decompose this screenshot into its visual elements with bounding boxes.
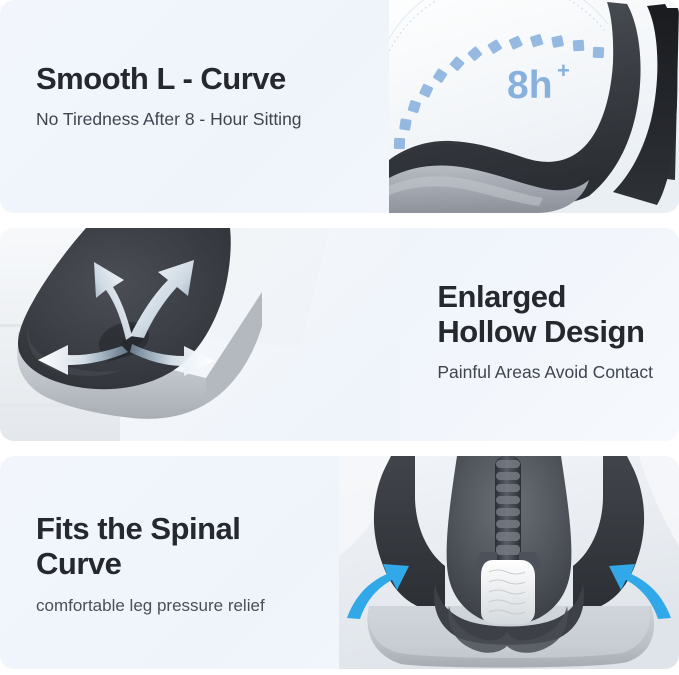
panel-2-text-block: Enlarged Hollow Design Painful Areas Avo…: [437, 280, 653, 384]
panel-3-title-line-1: Fits the Spinal: [36, 512, 265, 547]
svg-text:+: +: [557, 58, 570, 83]
tailbone-cutout: [481, 560, 535, 624]
feature-panel-fits-the-spinal-curve: Fits the Spinal Curve comfortable leg pr…: [0, 456, 679, 669]
panel-3-text-block: Fits the Spinal Curve comfortable leg pr…: [36, 512, 265, 617]
feature-panel-smooth-l-curve: 8h + 8h+ Smooth L - Curve No Tiredness A…: [0, 0, 679, 213]
panel-3-title-line-2: Curve: [36, 547, 265, 582]
panel-2-subtitle: Painful Areas Avoid Contact: [437, 362, 653, 384]
panel-1-title: Smooth L - Curve: [36, 62, 302, 97]
panel-2-title-line-1: Enlarged: [437, 280, 653, 315]
panel-1-text-block: Smooth L - Curve No Tiredness After 8 - …: [36, 62, 302, 131]
l-curve-cushion-image: 8h + 8h+: [389, 0, 679, 213]
svg-text:8h: 8h: [507, 64, 553, 107]
hollow-cushion-image: [0, 228, 400, 441]
spinal-curve-anatomy-image: [339, 456, 679, 669]
panel-2-title-line-2: Hollow Design: [437, 315, 653, 350]
panel-1-subtitle: No Tiredness After 8 - Hour Sitting: [36, 109, 302, 131]
panel-3-subtitle: comfortable leg pressure relief: [36, 595, 265, 616]
infographic-sheet: 8h + 8h+ Smooth L - Curve No Tiredness A…: [0, 0, 679, 675]
feature-panel-enlarged-hollow-design: Enlarged Hollow Design Painful Areas Avo…: [0, 228, 679, 441]
